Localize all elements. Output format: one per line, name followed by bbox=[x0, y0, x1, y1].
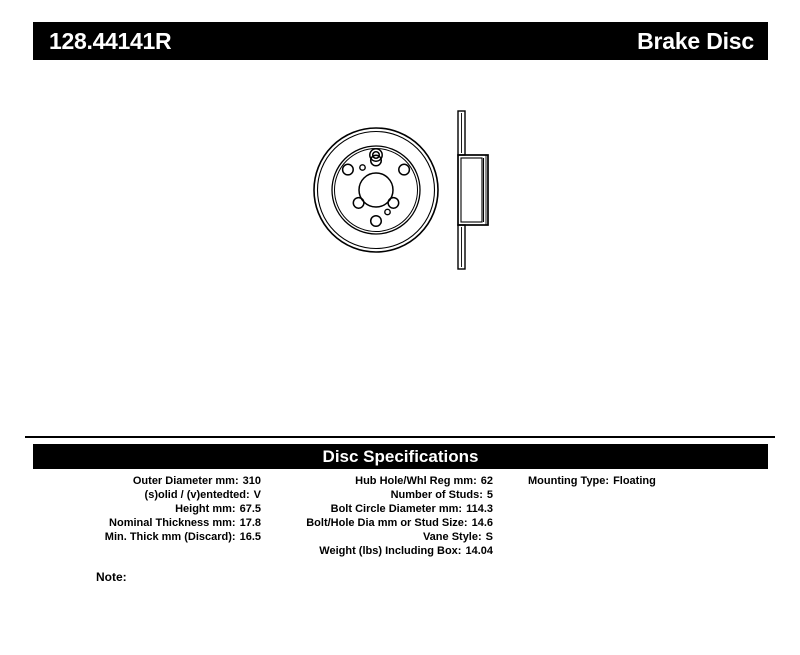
spec-label: Hub Hole/Whl Reg mm: bbox=[355, 474, 477, 488]
spec-row: Min. Thick mm (Discard): 16.5 bbox=[33, 530, 261, 544]
spec-section-header: Disc Specifications bbox=[33, 444, 768, 469]
spec-row: Bolt/Hole Dia mm or Stud Size: 14.6 bbox=[261, 516, 493, 530]
spec-section-title: Disc Specifications bbox=[323, 448, 479, 465]
drawing-area bbox=[0, 95, 800, 295]
spec-label: Weight (lbs) Including Box: bbox=[319, 544, 461, 558]
spec-value: 14.6 bbox=[468, 516, 493, 530]
section-divider bbox=[25, 436, 775, 438]
spec-value: 17.8 bbox=[236, 516, 261, 530]
spec-row: Bolt Circle Diameter mm: 114.3 bbox=[261, 502, 493, 516]
spec-column-left: Outer Diameter mm: 310 (s)olid / (v)ente… bbox=[33, 474, 261, 544]
spec-row: Height mm: 67.5 bbox=[33, 502, 261, 516]
hat-inner-wall bbox=[461, 158, 482, 222]
spec-label: Mounting Type: bbox=[528, 474, 609, 488]
lug-hole bbox=[353, 198, 364, 209]
alignment-hole bbox=[360, 165, 365, 170]
spec-label: (s)olid / (v)entedted: bbox=[145, 488, 250, 502]
lug-hole bbox=[371, 216, 382, 227]
spec-row: Vane Style: S bbox=[261, 530, 493, 544]
spec-column-middle: Hub Hole/Whl Reg mm: 62 Number of Studs:… bbox=[261, 474, 493, 558]
lug-hole bbox=[388, 198, 399, 209]
spec-value: Floating bbox=[609, 474, 656, 488]
spec-row: Outer Diameter mm: 310 bbox=[33, 474, 261, 488]
note-row: Note: bbox=[96, 570, 132, 584]
spec-row: Weight (lbs) Including Box: 14.04 bbox=[261, 544, 493, 558]
spec-row: Number of Studs: 5 bbox=[261, 488, 493, 502]
lug-hole bbox=[399, 164, 410, 175]
spec-label: Outer Diameter mm: bbox=[133, 474, 239, 488]
alignment-hole bbox=[385, 209, 390, 214]
spec-value: 310 bbox=[239, 474, 261, 488]
spec-row: Nominal Thickness mm: 17.8 bbox=[33, 516, 261, 530]
spec-label: Nominal Thickness mm: bbox=[109, 516, 236, 530]
brake-disc-drawing bbox=[290, 95, 510, 295]
lug-hole bbox=[343, 164, 354, 175]
spec-value: V bbox=[250, 488, 261, 502]
spec-row: (s)olid / (v)entedted: V bbox=[33, 488, 261, 502]
spec-value: 114.3 bbox=[462, 502, 493, 516]
note-value bbox=[127, 570, 132, 584]
note-label: Note: bbox=[96, 570, 127, 584]
spec-columns: Outer Diameter mm: 310 (s)olid / (v)ente… bbox=[33, 474, 768, 558]
spec-label: Bolt Circle Diameter mm: bbox=[331, 502, 462, 516]
spec-value: 16.5 bbox=[236, 530, 261, 544]
spec-column-right: Mounting Type: Floating bbox=[493, 474, 768, 488]
spec-row: Mounting Type: Floating bbox=[493, 474, 768, 488]
spec-value: S bbox=[482, 530, 493, 544]
spec-value: 67.5 bbox=[236, 502, 261, 516]
rotor-friction-inner-circle bbox=[332, 146, 420, 234]
part-number-label: 128.44141R bbox=[49, 30, 171, 53]
rotor-edge-section-view bbox=[458, 111, 488, 269]
header-bar: 128.44141R Brake Disc bbox=[33, 22, 768, 60]
spec-label: Vane Style: bbox=[423, 530, 482, 544]
spec-label: Bolt/Hole Dia mm or Stud Size: bbox=[306, 516, 467, 530]
spec-row: Hub Hole/Whl Reg mm: 62 bbox=[261, 474, 493, 488]
spec-label: Number of Studs: bbox=[391, 488, 483, 502]
rotor-face-view bbox=[314, 128, 438, 252]
spec-label: Height mm: bbox=[175, 502, 236, 516]
spec-value: 62 bbox=[477, 474, 493, 488]
spec-value: 14.04 bbox=[461, 544, 493, 558]
spec-label: Min. Thick mm (Discard): bbox=[105, 530, 236, 544]
spec-value: 5 bbox=[483, 488, 493, 502]
product-type-title: Brake Disc bbox=[637, 30, 754, 53]
